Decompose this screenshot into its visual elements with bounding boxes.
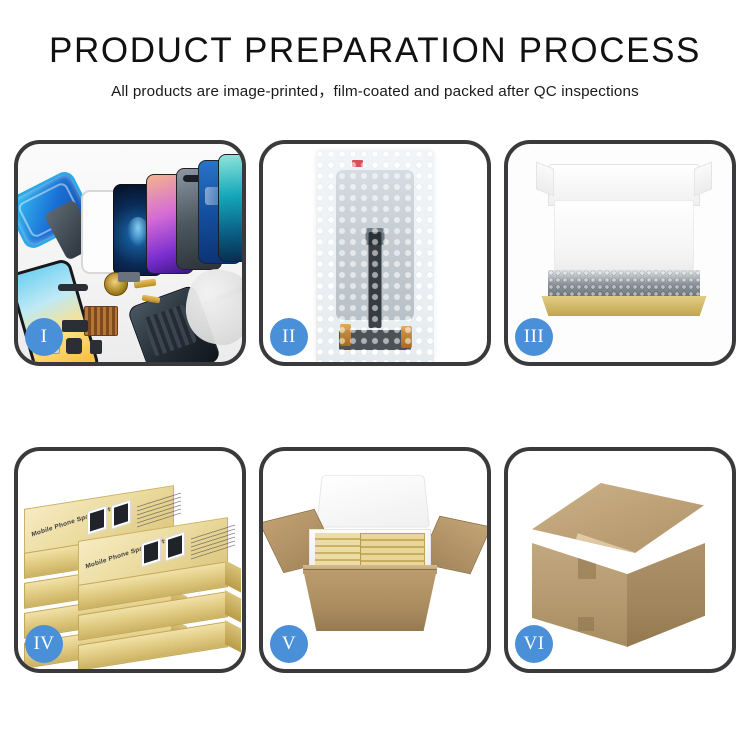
camera-module-icon <box>62 320 88 332</box>
step-5-image: V <box>263 451 487 669</box>
carton-flap-seam-bottom <box>578 617 594 631</box>
process-step-3: III <box>504 140 736 366</box>
retail-box-speclines-rear <box>137 492 181 528</box>
carton-flap-seam-top <box>578 557 596 579</box>
step-badge-1: I <box>25 318 63 356</box>
carton-body <box>303 569 437 631</box>
page-subtitle: All products are image-printed，film-coat… <box>0 79 750 101</box>
process-step-2: II <box>259 140 491 366</box>
screen-flex-cable <box>369 232 382 328</box>
step-6-image: VI <box>508 451 732 669</box>
step-badge-3: III <box>515 318 553 356</box>
step-2-image: II <box>263 144 487 362</box>
retail-box-window-front-2 <box>165 531 185 561</box>
screen-label-sticker <box>352 160 363 167</box>
step-4-image: Mobile Phone Spare Parts Mobile Phone Sp… <box>18 451 242 669</box>
header: PRODUCT PREPARATION PROCESS All products… <box>0 0 750 101</box>
step-3-image: III <box>508 144 732 362</box>
page-title: PRODUCT PREPARATION PROCESS <box>0 32 750 70</box>
retail-box-speclines-front <box>191 524 235 560</box>
speaker-part-icon <box>58 284 88 291</box>
amber-flex-left <box>340 324 351 346</box>
retail-box-window-rear-1 <box>87 505 107 535</box>
process-step-1: I <box>14 140 246 366</box>
step-badge-2: II <box>270 318 308 356</box>
step-badge-6: VI <box>515 625 553 663</box>
process-step-6: VI <box>504 447 736 673</box>
logic-board-chip-icon <box>84 306 118 336</box>
gold-box-front-edge <box>538 296 710 316</box>
gold-boxes-row-left <box>315 533 361 569</box>
step-badge-4: IV <box>25 625 63 663</box>
white-foam-padding <box>554 200 694 278</box>
bubble-wrap-package-graphic <box>316 150 434 362</box>
process-step-5: V <box>259 447 491 673</box>
screw-set-icon <box>90 340 102 354</box>
process-step-grid: I II <box>14 140 736 673</box>
teal-wave-phone-graphic <box>218 154 242 262</box>
retail-box-window-rear-2 <box>111 499 131 529</box>
taptic-engine-icon <box>66 338 82 354</box>
amber-flex-right <box>401 326 412 348</box>
product-preparation-infographic: PRODUCT PREPARATION PROCESS All products… <box>0 0 750 750</box>
carton-right-face <box>627 543 705 647</box>
process-step-4: Mobile Phone Spare Parts Mobile Phone Sp… <box>14 447 246 673</box>
retail-box-window-front-1 <box>141 537 161 567</box>
foam-box-lid <box>316 475 430 527</box>
earpiece-mesh-icon <box>118 272 140 282</box>
step-1-image: I <box>18 144 242 362</box>
step-badge-5: V <box>270 625 308 663</box>
